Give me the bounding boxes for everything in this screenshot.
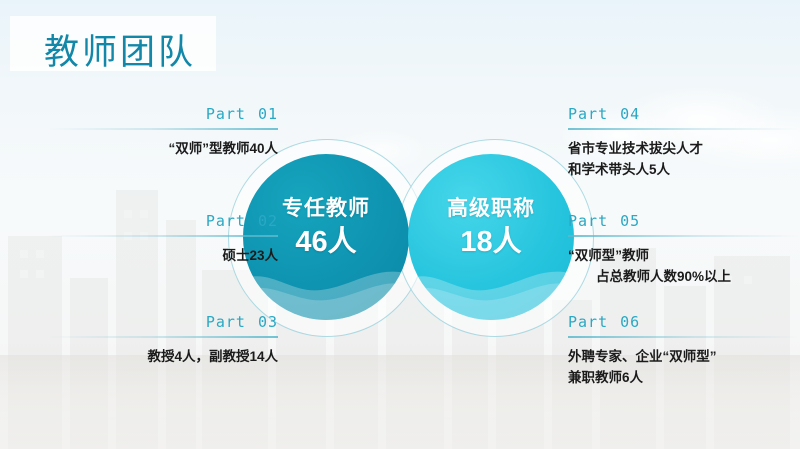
part-divider xyxy=(48,336,278,338)
part-text-line: “双师型”教师 xyxy=(568,245,798,266)
stat-bubble-senior-title[interactable]: 高级职称 18人 xyxy=(408,154,574,320)
part-heading: Part04 xyxy=(568,105,798,123)
part-number: 05 xyxy=(620,212,640,230)
part-text-line: 外聘专家、企业“双师型” xyxy=(568,346,798,367)
part-block-02[interactable]: Part02 硕士23人 xyxy=(48,212,278,266)
part-divider xyxy=(48,235,278,237)
part-block-03[interactable]: Part03 教授4人，副教授14人 xyxy=(48,313,278,367)
part-block-01[interactable]: Part01 “双师”型教师40人 xyxy=(48,105,278,159)
part-divider xyxy=(568,235,798,237)
page-title: 教师团队 xyxy=(44,24,196,75)
part-text-line: 硕士23人 xyxy=(48,245,278,266)
part-divider xyxy=(48,128,278,130)
wave-decoration-icon xyxy=(408,260,574,320)
city-skyline-watermark xyxy=(0,150,800,449)
wave-decoration-icon xyxy=(243,260,409,320)
part-text-line: 兼职教师6人 xyxy=(568,367,798,388)
part-word: Part xyxy=(206,105,246,123)
bubble-value: 18人 xyxy=(408,224,574,260)
part-word: Part xyxy=(568,212,608,230)
part-text-line: 和学术带头人5人 xyxy=(568,159,798,180)
part-text-line: 教授4人，副教授14人 xyxy=(48,346,278,367)
part-number: 01 xyxy=(258,105,278,123)
part-divider xyxy=(568,336,798,338)
part-heading: Part01 xyxy=(48,105,278,123)
part-word: Part xyxy=(568,105,608,123)
part-word: Part xyxy=(568,313,608,331)
part-number: 04 xyxy=(620,105,640,123)
part-word: Part xyxy=(206,313,246,331)
bubble-outer-ring-right xyxy=(396,139,594,337)
part-block-04[interactable]: Part04 省市专业技术拔尖人才 和学术带头人5人 xyxy=(568,105,798,180)
part-heading: Part03 xyxy=(48,313,278,331)
slide-teacher-team: 教师团队 专任教师 46人 高级职称 18人 xyxy=(0,0,800,449)
bubble-label: 高级职称 xyxy=(408,196,574,222)
part-number: 06 xyxy=(620,313,640,331)
part-text-line: 省市专业技术拔尖人才 xyxy=(568,138,798,159)
part-heading: Part02 xyxy=(48,212,278,230)
part-number: 02 xyxy=(258,212,278,230)
part-text-line: 占总教师人数90%以上 xyxy=(568,266,798,287)
part-heading: Part06 xyxy=(568,313,798,331)
part-heading: Part05 xyxy=(568,212,798,230)
part-block-05[interactable]: Part05 “双师型”教师 占总教师人数90%以上 xyxy=(568,212,798,287)
part-divider xyxy=(568,128,798,130)
part-number: 03 xyxy=(258,313,278,331)
part-text-line: “双师”型教师40人 xyxy=(48,138,278,159)
part-word: Part xyxy=(206,212,246,230)
part-block-06[interactable]: Part06 外聘专家、企业“双师型” 兼职教师6人 xyxy=(568,313,798,388)
